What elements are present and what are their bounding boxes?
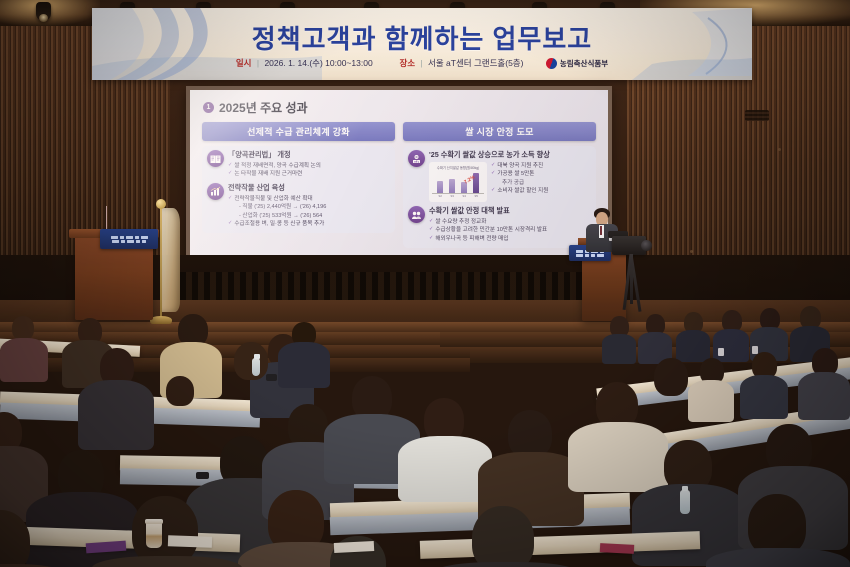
check-icon: ✓ [228, 162, 232, 170]
attendee-body [568, 422, 668, 492]
check-icon: ✓ [429, 226, 433, 234]
attendee-body [78, 380, 154, 450]
bullet-text: 쌀 수요량 추정 정교화 [435, 218, 486, 226]
event-banner: 정책고객과 함께하는 업무보고 일시 | 2026. 1. 14.(수) 10:… [92, 8, 752, 80]
presenter-tie [600, 226, 602, 235]
bullet-item: - 산업화 ('25) 533억원 → ('26) 564 [228, 212, 390, 220]
banner-separator: | [257, 58, 259, 68]
flag-finial [156, 199, 166, 209]
block-row: 수확기 산지쌀값 동향(원/80kg) 7.2% [429, 162, 591, 202]
ministry-logo: 농림축산식품부 [546, 58, 608, 69]
attendee-body [676, 330, 710, 362]
coffee-cup [146, 522, 162, 548]
bullet-item: ✓수급조절용 벼, 밀·콩 등 신규 품목 추가 [228, 220, 390, 228]
bullet-text: 가공용 쌀 5만톤 [497, 170, 534, 178]
banner-separator: | [420, 58, 422, 68]
bullet-item: ✓쌀 적정 재배면적, 양곡 수급계획 논의 [228, 162, 390, 170]
bullet-text: - 직불 ('25) 2,440억원 → ('26) 4,196 [239, 203, 326, 211]
attendee-body [602, 334, 636, 364]
korean-national-flag [162, 208, 180, 312]
audience-area [0, 300, 850, 567]
bullet-list: ✓쌀 수요량 추정 정교화 ✓수급상황을 고려한 민간분 10만톤 시장격리 발… [429, 218, 591, 243]
bullet-item: ✓소비자 쌀값 할인 지원 [491, 187, 548, 195]
bullet-item: ✓해외우나곡 등 피해벼 전량 매입 [429, 235, 591, 243]
bullet-item: ✓대북 양곡 지원 추진 [491, 162, 548, 170]
chart-tick: '24 [462, 194, 466, 198]
slide-block: 수확기 쌀값 안정 대책 발표 ✓쌀 수요량 추정 정교화 ✓수급상황을 고려한… [408, 206, 591, 243]
smartphone [196, 472, 209, 479]
check-icon: ✓ [228, 170, 232, 178]
projected-slide: 1 2025년 주요 성과 선제적 수급 관리체계 강화 [190, 90, 608, 270]
tripod-leg [630, 254, 633, 304]
block-heading: 「양곡관리법」 개정 [228, 150, 390, 160]
bullet-item: ✓쌀 수요량 추정 정교화 [429, 218, 591, 226]
block-body: 「양곡관리법」 개정 ✓쌀 적정 재배면적, 양곡 수급계획 논의 ✓논 타작물… [228, 150, 390, 179]
projection-screen: 1 2025년 주요 성과 선제적 수급 관리체계 강화 [186, 86, 612, 274]
ministry-name: 농림축산식품부 [560, 58, 608, 69]
stage-spotlight-icon [36, 2, 51, 21]
smartphone [266, 374, 277, 381]
chart-bar [449, 179, 455, 193]
banner-date-value: 2026. 1. 14.(수) 10:00~13:00 [264, 58, 372, 68]
chart-tick: '25 [474, 194, 478, 198]
slide-block: 「양곡관리법」 개정 ✓쌀 적정 재배면적, 양곡 수급계획 논의 ✓논 타작물… [207, 150, 390, 179]
document-paper [168, 535, 212, 548]
bullet-text: 소비자 쌀값 할인 지원 [497, 187, 548, 195]
block-heading: 전략작물 산업 육성 [228, 183, 390, 193]
slide-number-badge: 1 [203, 102, 214, 113]
check-icon: ✓ [429, 235, 433, 243]
policy-announce-icon [408, 206, 425, 223]
check-icon: ✓ [491, 187, 495, 195]
column-heading: 쌀 시장 안정 도모 [403, 122, 596, 141]
chart-bar [437, 181, 443, 193]
block-body: '25 수확기 쌀값 상승으로 농가 소득 향상 수확기 산지쌀값 동향(원/8… [429, 150, 591, 202]
chart-plot: 7.2% [432, 170, 484, 194]
attendee-body [688, 380, 734, 422]
wall-fixture-dot [778, 148, 781, 151]
podium-sign [100, 229, 158, 249]
chart-tick: '22 [438, 194, 442, 198]
check-icon: ✓ [429, 218, 433, 226]
bullet-item: ✓전략작물직불 및 산업화 예산 확대 [228, 195, 390, 203]
attendee-head [234, 342, 268, 380]
block-body: 전략작물 산업 육성 ✓전략작물직불 및 산업화 예산 확대 - 직불 ('25… [228, 183, 390, 229]
water-bottle [252, 358, 260, 376]
check-icon: ✓ [228, 220, 232, 228]
attendee-body [278, 342, 330, 388]
attendee-body [740, 375, 788, 419]
attendee-body [432, 562, 580, 567]
slide-block: 전략작물 산업 육성 ✓전략작물직불 및 산업화 예산 확대 - 직불 ('25… [207, 183, 390, 229]
bottle-cap [682, 486, 688, 491]
block-body: 수확기 쌀값 안정 대책 발표 ✓쌀 수요량 추정 정교화 ✓수급상황을 고려한… [429, 206, 591, 243]
attendee-head [654, 358, 688, 396]
attendee-head [508, 410, 552, 458]
chart-tick: '23 [450, 194, 454, 198]
bar-chart-icon [207, 183, 224, 200]
attendee-head [748, 494, 806, 556]
column-heading: 선제적 수급 관리체계 강화 [202, 122, 395, 141]
block-heading: 수확기 쌀값 안정 대책 발표 [429, 206, 591, 216]
bullet-text: 해외우나곡 등 피해벼 전량 매입 [435, 235, 508, 243]
bullet-text: 쌀 적정 재배면적, 양곡 수급계획 논의 [234, 162, 321, 170]
korea-government-emblem-icon [546, 58, 557, 69]
attendee-body [713, 329, 749, 362]
attendee-body [0, 338, 48, 382]
banner-place-value: 서울 aT센터 그랜드홀(5층) [428, 58, 523, 68]
slide-header: 1 2025년 주요 성과 [203, 99, 599, 116]
water-bottle [680, 490, 690, 514]
banner-place-label: 장소 [399, 58, 415, 68]
podium-sign-line [112, 240, 146, 243]
bullet-text: 논 타작물 재배 지원 근거마련 [234, 170, 302, 178]
slide-title: 2025년 주요 성과 [219, 99, 308, 116]
cup-lid [145, 519, 163, 524]
bullet-list: ✓쌀 적정 재배면적, 양곡 수급계획 논의 ✓논 타작물 재배 지원 근거마련 [228, 162, 390, 179]
bullet-item: 추가 공급 [491, 179, 548, 187]
check-icon: ✓ [491, 162, 495, 170]
column-card: '25 수확기 쌀값 상승으로 농가 소득 향상 수확기 산지쌀값 동향(원/8… [403, 146, 596, 248]
slide-column-right: 쌀 시장 안정 도모 [403, 122, 596, 248]
bullet-text: 수급상황을 고려한 민간분 10만톤 시장격리 발표 [435, 226, 547, 234]
bullet-list: ✓대북 양곡 지원 추진 ✓가공용 쌀 5만톤 추가 공급 ✓소비자 쌀값 할인… [491, 162, 548, 196]
slide-column-left: 선제적 수급 관리체계 강화 [202, 122, 395, 248]
banner-date-label: 일시 [236, 58, 252, 68]
bullet-text: 대북 양곡 지원 추진 [497, 162, 543, 170]
document-paper [334, 541, 374, 553]
bullet-item: ✓수급상황을 고려한 민간분 10만톤 시장격리 발표 [429, 226, 591, 234]
bullet-text: 추가 공급 [502, 179, 524, 187]
chart-x-axis: '22 '23 '24 '25 [432, 194, 484, 198]
check-icon: ✓ [228, 195, 232, 203]
attendee-head [166, 376, 194, 406]
attendee-head [12, 316, 34, 340]
podium-sign-line [111, 236, 148, 239]
bullet-text: 수급조절용 벼, 밀·콩 등 신규 품목 추가 [234, 220, 324, 228]
bullet-list: ✓전략작물직불 및 산업화 예산 확대 - 직불 ('25) 2,440억원 →… [228, 195, 390, 229]
block-heading: '25 수확기 쌀값 상승으로 농가 소득 향상 [429, 150, 591, 160]
slide-content: 1 2025년 주요 성과 선제적 수급 관리체계 강화 [190, 90, 608, 270]
bullet-item: ✓가공용 쌀 5만톤 [491, 170, 548, 178]
conference-hall-photo: 정책고객과 함께하는 업무보고 일시 | 2026. 1. 14.(수) 10:… [0, 0, 850, 567]
wall-fixture-dot [690, 250, 693, 253]
wall-vent [745, 110, 769, 121]
banner-title: 정책고객과 함께하는 업무보고 [92, 19, 752, 56]
rice-price-icon [408, 150, 425, 167]
check-icon: ✓ [491, 170, 495, 178]
podium-sign-line [576, 254, 604, 257]
attendee-head [472, 506, 534, 567]
bullet-text: 전략작물직불 및 산업화 예산 확대 [234, 195, 312, 203]
rice-price-chart: 수확기 산지쌀값 동향(원/80kg) 7.2% [429, 162, 487, 202]
attendee-badge [718, 348, 724, 356]
bullet-item: - 직불 ('25) 2,440억원 → ('26) 4,196 [228, 203, 390, 211]
document-folder [600, 543, 634, 554]
slide-block: '25 수확기 쌀값 상승으로 농가 소득 향상 수확기 산지쌀값 동향(원/8… [408, 150, 591, 202]
camera-lens-icon [641, 240, 652, 251]
attendee-body [798, 372, 850, 420]
bullet-item: ✓논 타작물 재배 지원 근거마련 [228, 170, 390, 178]
slide-columns: 선제적 수급 관리체계 강화 [199, 122, 599, 248]
open-book-icon [207, 150, 224, 167]
banner-subtitle: 일시 | 2026. 1. 14.(수) 10:00~13:00 장소 | 서울… [92, 57, 752, 69]
column-card: 「양곡관리법」 개정 ✓쌀 적정 재배면적, 양곡 수급계획 논의 ✓논 타작물… [202, 146, 395, 233]
bullet-text: - 산업화 ('25) 533억원 → ('26) 564 [239, 212, 322, 220]
bottle-cap [254, 354, 260, 359]
attendee-body [706, 548, 850, 567]
